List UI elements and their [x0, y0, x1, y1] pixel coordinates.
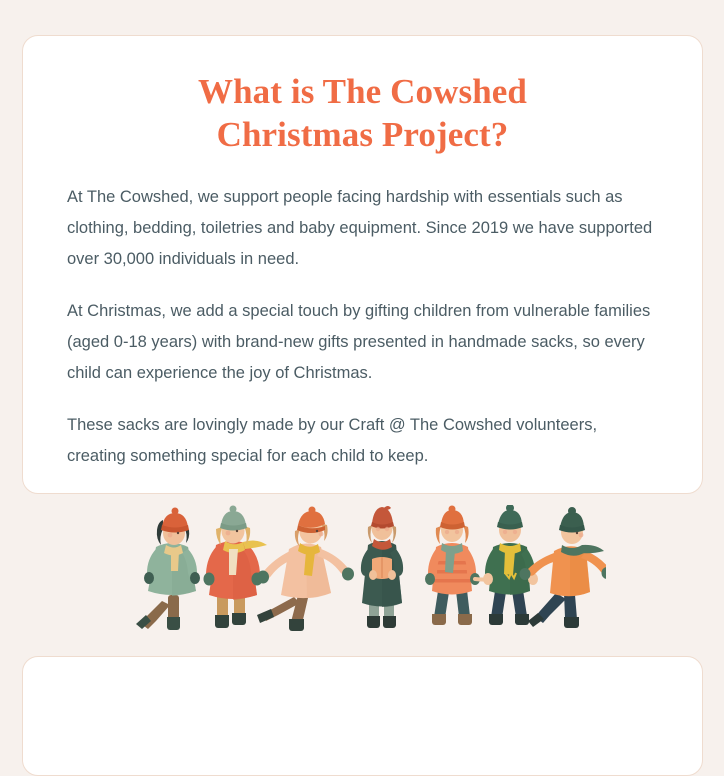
intro-paragraph-3: These sacks are lovingly made by our Cra…	[67, 410, 658, 472]
child-caroling-dark-green-coat-icon	[361, 506, 403, 628]
page-title-line-2: Christmas Project?	[45, 113, 680, 156]
page-title: What is The Cowshed Christmas Project?	[45, 70, 680, 156]
child-skating-orange-jumper-icon	[520, 507, 607, 628]
intro-paragraph-1: At The Cowshed, we support people facing…	[67, 182, 658, 275]
page-title-line-1: What is The Cowshed	[45, 70, 680, 113]
intro-body: At The Cowshed, we support people facing…	[45, 182, 680, 472]
child-standing-coral-coat-icon	[204, 506, 268, 629]
intro-card: What is The Cowshed Christmas Project? A…	[22, 35, 703, 494]
intro-paragraph-2: At Christmas, we add a special touch by …	[67, 296, 658, 389]
child-holding-hands-orange-striped-jacket-icon	[425, 506, 480, 626]
child-skating-peach-coat-icon	[257, 507, 354, 632]
page-root: What is The Cowshed Christmas Project? A…	[0, 0, 724, 687]
child-walking-green-coat-icon	[136, 508, 200, 631]
child-holding-hands-green-jacket-icon	[475, 505, 538, 625]
next-card	[22, 656, 703, 776]
winter-children-illustration	[126, 505, 606, 633]
